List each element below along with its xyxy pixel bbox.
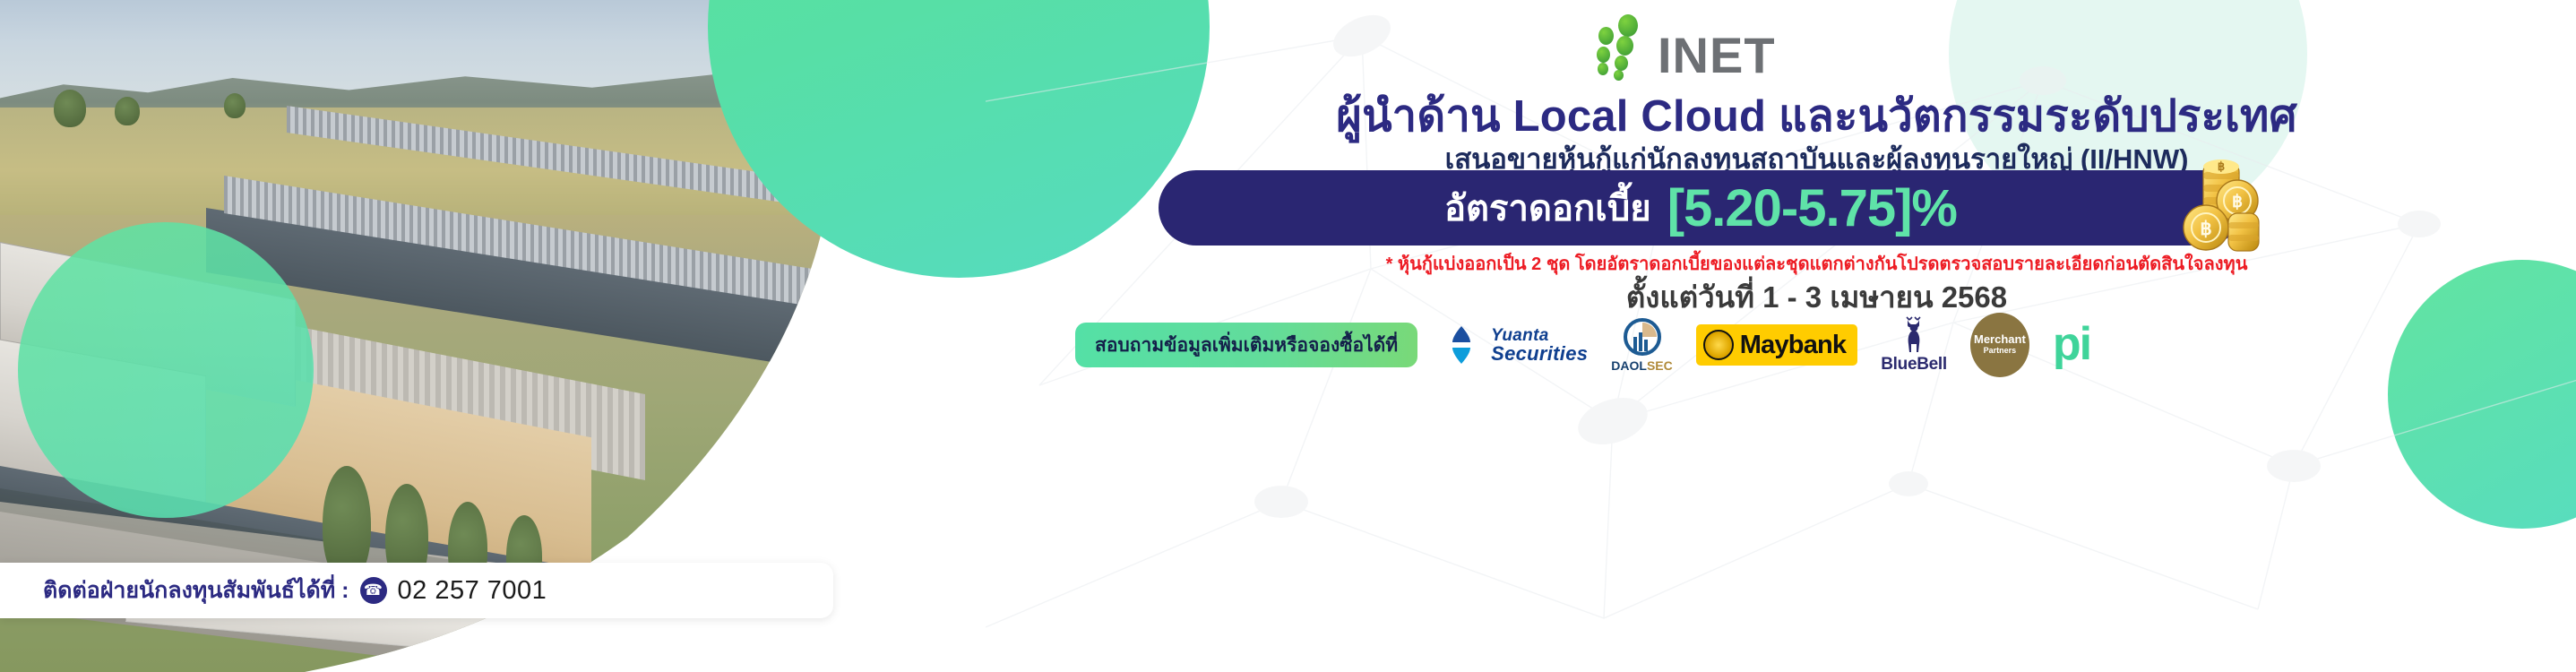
partner-name-line2: SEC: [1647, 358, 1673, 373]
investor-relations-contact: ติดต่อฝ่ายนักลงทุนสัมพันธ์ได้ที่ : ☎ 02 …: [0, 563, 833, 618]
inet-logo-text: INET: [1658, 32, 1776, 79]
inet-bond-offering-banner: INET ผู้นำด้าน Local Cloud และนวัตกรรมระ…: [0, 0, 2576, 672]
photo-tree: [54, 90, 86, 127]
bluebell-deer-icon: [1898, 316, 1930, 354]
partner-name-line2: Securities: [1491, 344, 1588, 364]
partner-name-line1: Merchant: [1974, 333, 2026, 345]
partner-name-line1: DAOL: [1611, 358, 1647, 373]
contact-label: ติดต่อฝ่ายนักลงทุนสัมพันธ์ได้ที่ :: [43, 573, 349, 608]
partners-row: สอบถามข้อมูลเพิ่มเติมหรือจองซื้อได้ที่ Y…: [1075, 314, 2563, 376]
yuanta-logo-icon: [1441, 324, 1482, 366]
svg-text:฿: ฿: [2218, 159, 2225, 173]
interest-rate-label: อัตราดอกเบี้ย: [1444, 179, 1651, 237]
partner-name-line1: Maybank: [1740, 331, 1847, 360]
maybank-tiger-icon: [1703, 330, 1734, 360]
partner-name-line1: pi: [2053, 326, 2090, 364]
content-column: INET ผู้นำด้าน Local Cloud และนวัตกรรมระ…: [1057, 0, 2576, 672]
partner-name-line1: Yuanta: [1491, 327, 1588, 344]
svg-text:฿: ฿: [2232, 193, 2243, 211]
gold-coins-icon: ฿ ฿ ฿: [2164, 154, 2262, 260]
photo-tree: [224, 93, 246, 118]
phone-icon: ☎: [360, 577, 387, 604]
daol-logo-icon: [1623, 317, 1662, 357]
inet-logo: INET: [1595, 13, 1776, 79]
partner-name-line2: Partners: [1984, 345, 2017, 357]
partner-logo-maybank[interactable]: Maybank: [1696, 324, 1858, 366]
partner-logo-daolsec[interactable]: DAOLSEC: [1611, 317, 1672, 373]
partner-logo-merchant[interactable]: Merchant Partners: [1970, 313, 2029, 377]
svg-text:฿: ฿: [2200, 218, 2211, 239]
contact-phone-number[interactable]: 02 257 7001: [398, 576, 547, 606]
interest-rate-value: [5.20-5.75]%: [1667, 178, 1957, 238]
partner-name-line1: BlueBell: [1881, 355, 1947, 375]
partner-logo-yuanta[interactable]: Yuanta Securities: [1441, 324, 1588, 366]
photo-tree: [115, 97, 140, 125]
decor-circle-left: [18, 222, 314, 518]
subscribe-cta-button[interactable]: สอบถามข้อมูลเพิ่มเติมหรือจองซื้อได้ที่: [1075, 323, 1417, 367]
partner-logo-pi[interactable]: pi: [2053, 326, 2090, 364]
partner-logo-bluebell[interactable]: BlueBell: [1881, 316, 1947, 375]
inet-dots-icon: [1595, 13, 1650, 79]
interest-rate-badge: อัตราดอกเบี้ย [5.20-5.75]% ฿: [1159, 170, 2243, 246]
